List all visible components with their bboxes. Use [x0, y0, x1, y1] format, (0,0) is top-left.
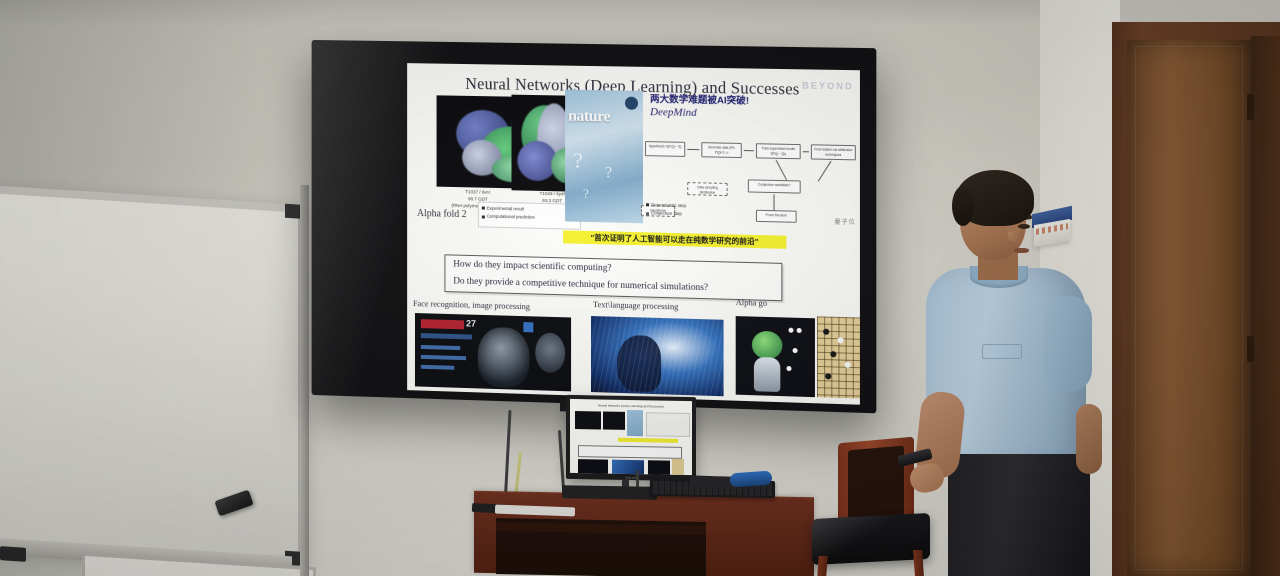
- monitor-screen: Neural Networks (Deep Learning) and Succ…: [570, 399, 692, 475]
- blue-object[interactable]: [730, 471, 773, 488]
- flow-box-side: Data sampling distribution: [687, 182, 727, 196]
- whiteboard-assembly: [0, 195, 310, 576]
- flow-mini-legend: Deterministic step Conjecture step: [643, 199, 701, 220]
- highlight-quote: "首次证明了人工智能可以走在纯数学研究的前沿": [563, 230, 786, 248]
- chinese-headline: 两大数学难题被AI突破!: [650, 91, 749, 107]
- section-caption-text: Text\language processing: [593, 300, 678, 311]
- thumb-go-board: [817, 316, 860, 398]
- question-box: How do they impact scientific computing?…: [444, 254, 782, 301]
- whiteboard[interactable]: [0, 185, 301, 566]
- chair-leg: [817, 556, 827, 576]
- alpha-fold-label: Alpha fold 2: [417, 208, 467, 220]
- presenter: [908, 168, 1098, 576]
- flow-box: Hypothesis X(P,Q) ~ f(): [645, 141, 685, 157]
- presentation-slide: Neural Networks (Deep Learning) and Succ…: [407, 63, 860, 405]
- nature-masthead: nature: [568, 108, 610, 127]
- door-hinge-icon: [1247, 336, 1254, 362]
- flow-box: Train supervised model f(Pq) ~ Qq: [756, 143, 801, 159]
- whiteboard-corner: [285, 204, 301, 219]
- far-arm: [1076, 404, 1102, 474]
- section-caption-face: Face recognition, image processing: [413, 299, 530, 311]
- thumb-face-recognition: 27: [415, 313, 571, 391]
- flowchart-watermark: 量子位: [834, 217, 856, 227]
- whiteboard-stand: [300, 185, 309, 576]
- flow-box: Conjecture candidate?: [748, 179, 801, 193]
- thumb-alphago-robot: [736, 316, 815, 397]
- mouth: [1014, 248, 1029, 253]
- desk-device[interactable]: [690, 475, 732, 487]
- room-photo: Neural Networks (Deep Learning) and Succ…: [0, 0, 1280, 576]
- laptop-closed[interactable]: [562, 485, 657, 500]
- thumb-text-language: [591, 316, 724, 396]
- sleeve: [1044, 296, 1092, 392]
- nature-badge-icon: [625, 97, 638, 110]
- door-hinge-icon: [1247, 94, 1254, 120]
- shirt-logo: [982, 344, 1022, 359]
- deepmind-label: DeepMind: [650, 106, 697, 119]
- flow-box: Generate data (Pd, PQ)i=1..n: [701, 142, 741, 158]
- wall-tv[interactable]: Neural Networks (Deep Learning) and Succ…: [312, 40, 877, 413]
- nature-cover-image: ? ? ? nature: [565, 90, 643, 224]
- wooden-door[interactable]: [1127, 40, 1251, 576]
- shorts: [948, 454, 1090, 576]
- flow-box: Prove theorem: [756, 210, 797, 223]
- section-caption-alphago: Alpha go: [736, 298, 767, 308]
- hair: [956, 170, 1034, 226]
- door-side-panel: [1251, 36, 1280, 576]
- tray-clip: [0, 546, 26, 562]
- desktop-monitor[interactable]: Neural Networks (Deep Learning) and Succ…: [566, 395, 696, 481]
- flow-box: Find relation via attribution techniques: [811, 144, 856, 160]
- slide-watermark: BEYOND: [802, 80, 854, 91]
